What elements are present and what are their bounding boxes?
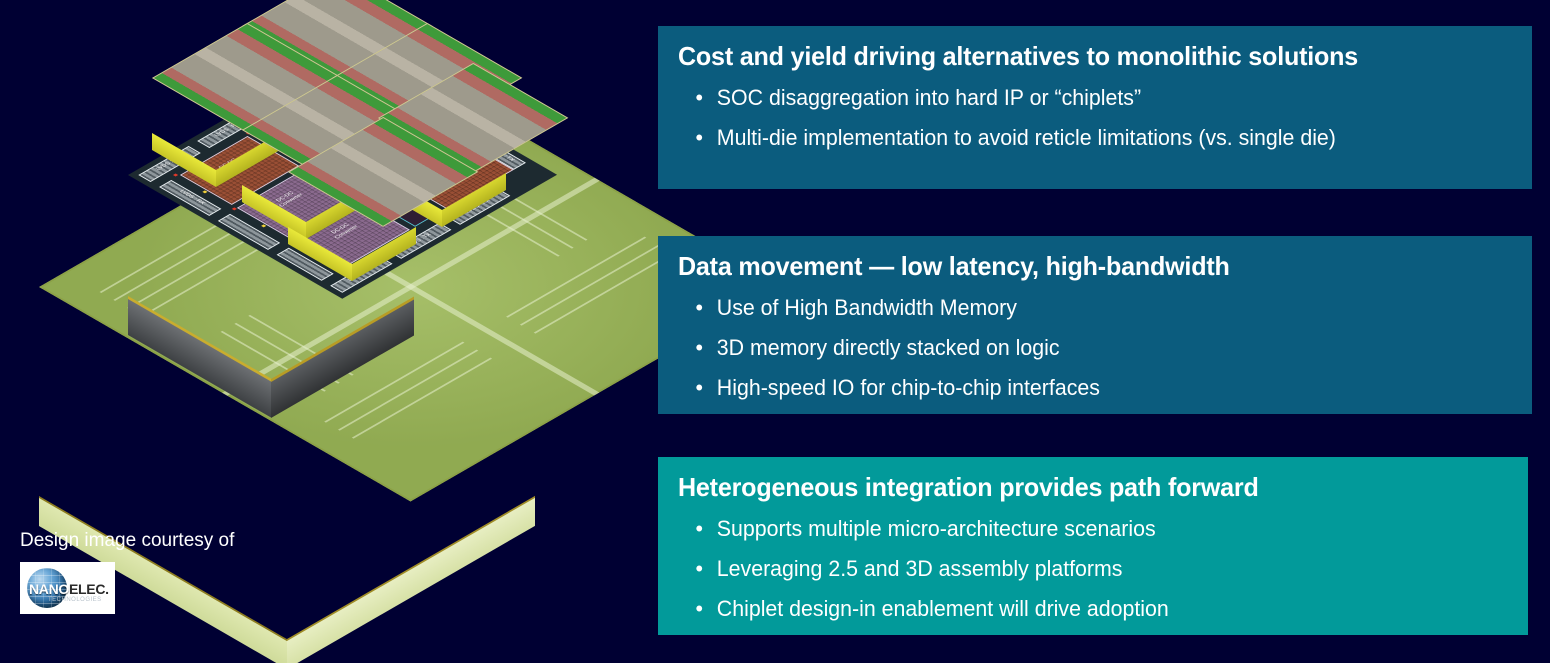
list-item: • Use of High Bandwidth Memory <box>678 288 1489 328</box>
list-item: • High-speed IO for chip-to-chip interfa… <box>678 368 1489 408</box>
bullet-icon: • <box>695 288 702 328</box>
list-item: • Supports multiple micro-architecture s… <box>678 509 1485 549</box>
chiplet-6 <box>288 172 440 264</box>
list-item: • Chiplet design-in enablement will driv… <box>678 589 1485 629</box>
bullet-icon: • <box>695 589 702 629</box>
panel-title: Cost and yield driving alternatives to m… <box>678 40 1485 72</box>
panel-bullet-list: • Supports multiple micro-architecture s… <box>678 509 1510 629</box>
bullet-icon: • <box>695 328 702 368</box>
bullet-icon: • <box>695 368 702 408</box>
panel-heterogeneous-integration: Heterogeneous integration provides path … <box>658 457 1528 635</box>
panel-title: Heterogeneous integration provides path … <box>678 471 1481 503</box>
slide-canvas: DC-DC ConverterDC-DC ConverterDC-DC Conv… <box>0 0 1550 663</box>
list-item: • SOC disaggregation into hard IP or “ch… <box>678 78 1489 118</box>
bullet-icon: • <box>695 118 702 158</box>
logo-tagline: TECHNOLOGIES <box>48 597 102 603</box>
panel-bullet-list: • Use of High Bandwidth Memory • 3D memo… <box>678 288 1514 408</box>
substrate-side-right <box>287 498 535 663</box>
list-item-label: Use of High Bandwidth Memory <box>717 295 1017 320</box>
panel-cost-yield: Cost and yield driving alternatives to m… <box>658 26 1532 189</box>
list-item-label: 3D memory directly stacked on logic <box>717 335 1060 360</box>
list-item-label: Supports multiple micro-architecture sce… <box>717 516 1156 541</box>
logo-name-primary: NANO <box>29 581 69 597</box>
list-item-label: High-speed IO for chip-to-chip interface… <box>717 375 1100 400</box>
list-item-label: Multi-die implementation to avoid reticl… <box>717 125 1336 150</box>
logo-name-secondary: ELEC. <box>69 581 109 597</box>
list-item: • Multi-die implementation to avoid reti… <box>678 118 1489 158</box>
nanoelec-logo: NANO ELEC. TECHNOLOGIES <box>20 562 115 614</box>
list-item-label: SOC disaggregation into hard IP or “chip… <box>717 85 1141 110</box>
bullet-icon: • <box>695 509 702 549</box>
panel-title: Data movement — low latency, high-bandwi… <box>678 250 1485 282</box>
list-item-label: Leveraging 2.5 and 3D assembly platforms <box>717 556 1123 581</box>
panel-data-movement: Data movement — low latency, high-bandwi… <box>658 236 1532 414</box>
list-item: • 3D memory directly stacked on logic <box>678 328 1489 368</box>
credit-caption: Design image courtesy of <box>20 530 234 552</box>
list-item-label: Chiplet design-in enablement will drive … <box>717 596 1169 621</box>
bullet-icon: • <box>695 78 702 118</box>
panel-bullet-list: • SOC disaggregation into hard IP or “ch… <box>678 78 1514 158</box>
bullet-icon: • <box>695 549 702 589</box>
list-item: • Leveraging 2.5 and 3D assembly platfor… <box>678 549 1485 589</box>
